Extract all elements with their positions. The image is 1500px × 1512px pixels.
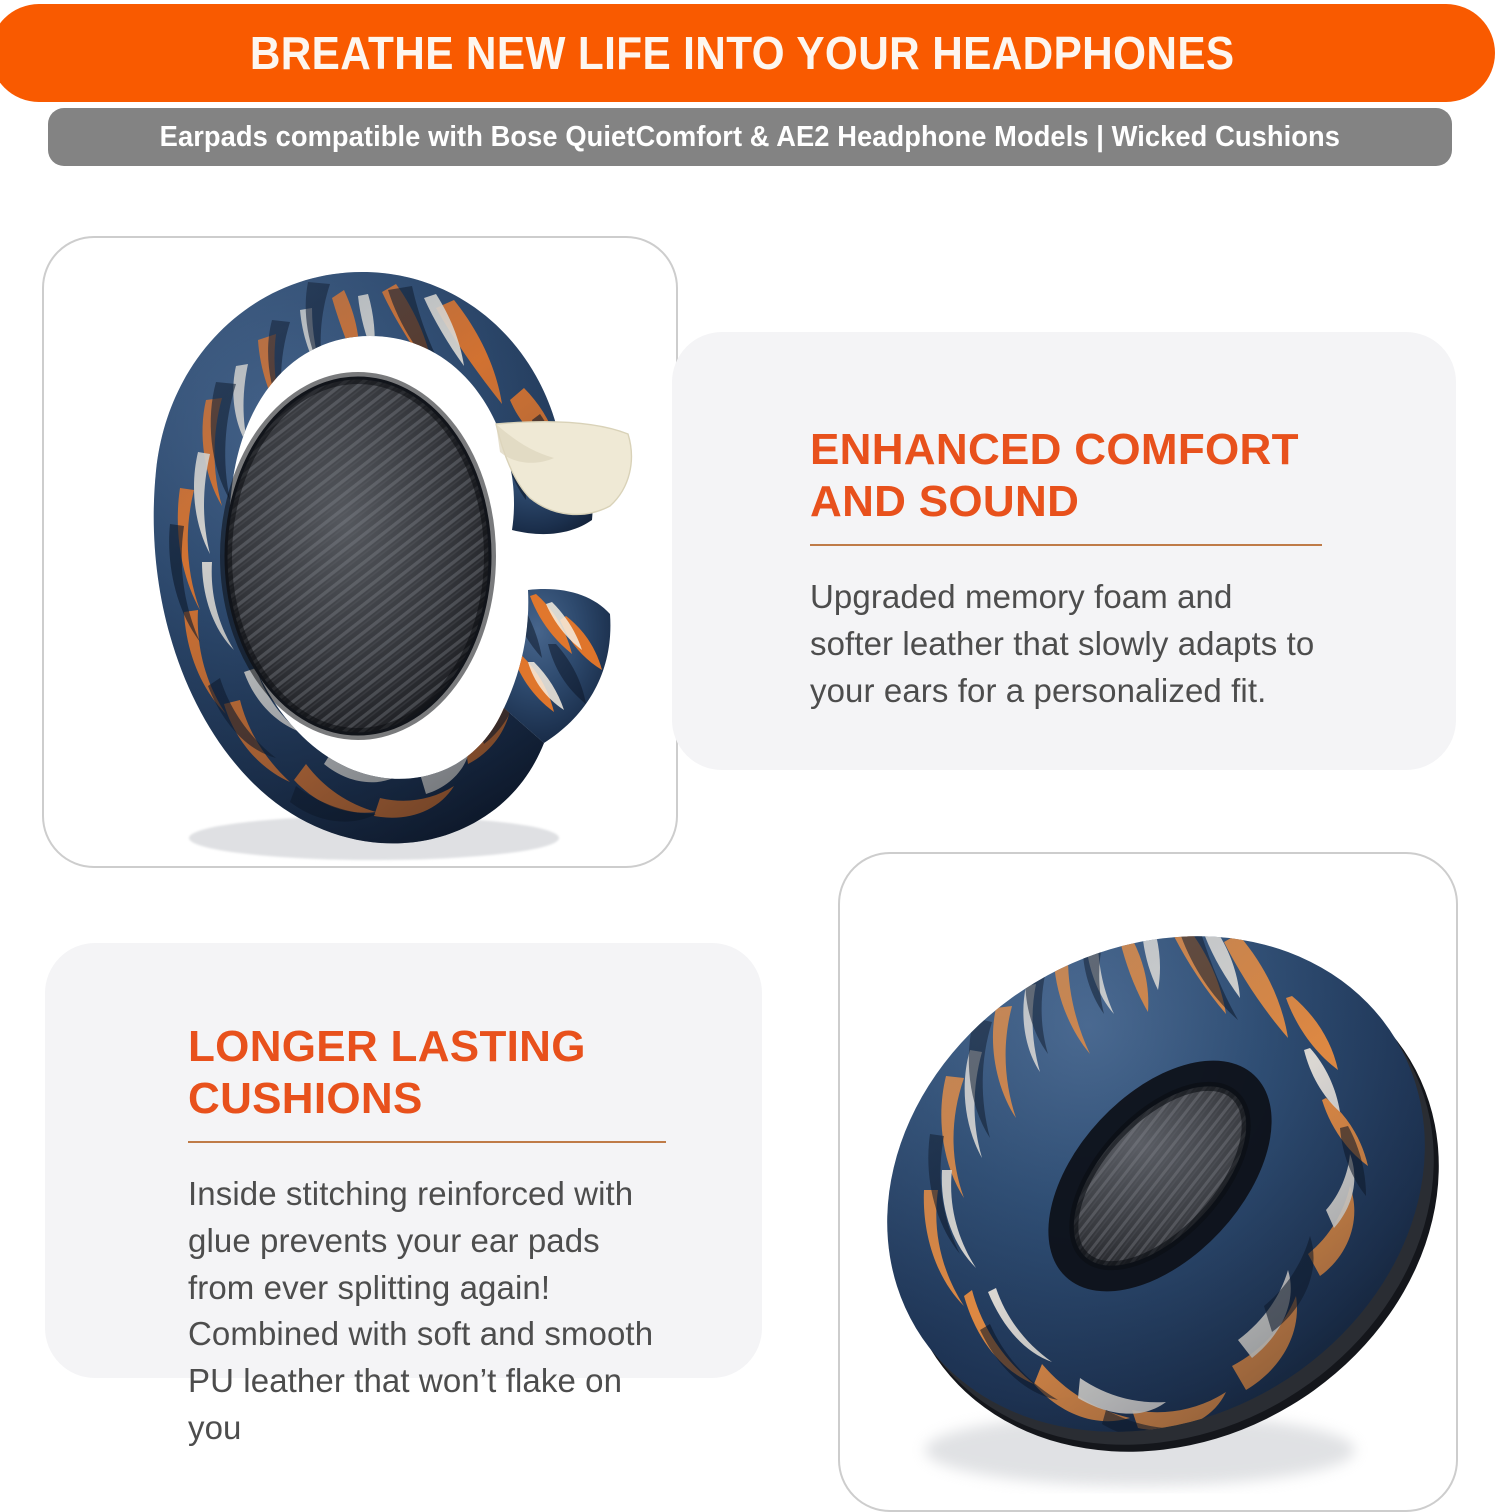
feature-panel-enhanced-comfort: ENHANCED COMFORT AND SOUND Upgraded memo… <box>672 332 1456 770</box>
product-image-card-angled <box>838 852 1458 1512</box>
compatibility-subtitle: Earpads compatible with Bose QuietComfor… <box>160 121 1340 154</box>
page-title: BREATHE NEW LIFE INTO YOUR HEADPHONES <box>250 26 1235 80</box>
feature-divider-rule <box>810 544 1322 546</box>
feature-heading-longer-lasting: LONGER LASTING CUSHIONS <box>188 1021 666 1125</box>
feature-heading-enhanced-comfort: ENHANCED COMFORT AND SOUND <box>810 424 1322 528</box>
feature-heading-line-1: ENHANCED COMFORT <box>810 424 1322 476</box>
earpad-front-upright-illustration <box>44 238 676 866</box>
earpad-angled-svg <box>840 854 1458 1512</box>
feature-heading-line-2: CUSHIONS <box>188 1073 666 1125</box>
header-banner: BREATHE NEW LIFE INTO YOUR HEADPHONES <box>0 4 1495 102</box>
earpad-upright-svg <box>44 238 678 868</box>
header-subtitle-bar: Earpads compatible with Bose QuietComfor… <box>48 108 1452 166</box>
feature-heading-line-2: AND SOUND <box>810 476 1322 528</box>
feature-body-longer-lasting: Inside stitching reinforced with glue pr… <box>188 1171 666 1452</box>
feature-panel-longer-lasting: LONGER LASTING CUSHIONS Inside stitching… <box>45 943 762 1378</box>
feature-divider-rule <box>188 1141 666 1143</box>
feature-heading-line-1: LONGER LASTING <box>188 1021 666 1073</box>
earpad-angled-illustration <box>840 854 1456 1510</box>
mesh-center <box>226 378 490 734</box>
feature-body-enhanced-comfort: Upgraded memory foam and softer leather … <box>810 574 1322 715</box>
product-image-card-upright <box>42 236 678 868</box>
